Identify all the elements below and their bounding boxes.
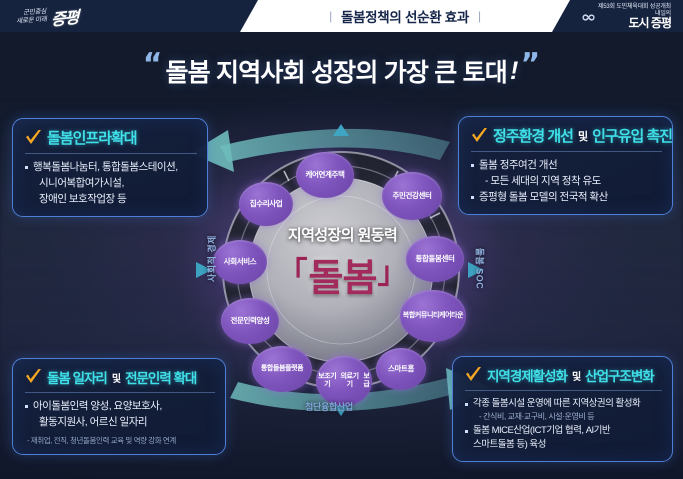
panel-title-part1: 정주환경 개선 — [493, 125, 573, 146]
node-bubble-label: 보조기기 — [316, 373, 338, 389]
list-item: 증평형 돌봄 모델의 전국적 확산 — [471, 190, 662, 205]
node-bubble-label: 통합 — [416, 255, 429, 264]
node-bubble-label: 의료기기 — [338, 373, 360, 389]
list-item-note: - 간식비, 교재·교구비, 시설·운영비 등 — [465, 411, 662, 422]
node-bubble-label: 양성 — [257, 317, 270, 326]
header-title-text: 돌봄정책의 선순환 효과 — [341, 6, 469, 26]
node-bubble-label: 건강센터 — [406, 192, 432, 201]
list-item: 장애인 보호작업장 등 — [25, 192, 197, 207]
list-item: - 모든 세대의 지역 정착 유도 — [471, 174, 662, 189]
node-bubble[interactable]: 전문인력양성 — [221, 298, 279, 344]
header-divider-right: | — [478, 9, 481, 23]
panel-list: 각종 돌봄시설 운영에 따른 지역상권의 활성화 - 간식비, 교재·교구비, … — [465, 397, 662, 452]
node-bubble[interactable]: 주민건강센터 — [382, 172, 442, 220]
flow-label-social-economy: 사회적 경제 — [205, 235, 218, 282]
list-item: 활동지원사, 어르신 일자리 — [25, 415, 215, 430]
panel-settlement-population[interactable]: 정주환경 개선 및 인구유입 촉진 돌봄 정주여건 개선 - 모든 세대의 지역… — [458, 116, 673, 215]
node-bubble[interactable]: 집수리사업 — [239, 182, 293, 226]
divider — [25, 153, 197, 154]
panel-title-part2: 전문인력 확대 — [125, 367, 196, 387]
divider — [471, 151, 662, 152]
node-bubble-label: 타운 — [451, 312, 463, 320]
panel-title-part1: 지역경제활성화 — [487, 365, 567, 385]
logo-left-tagline-2: 새로운 미래 — [16, 16, 47, 26]
panel-header: 돌봄 일자리 및 전문인력 확대 — [25, 367, 215, 387]
node-bubble-label: 돌봄플랫폼 — [273, 365, 303, 373]
panel-list: 아이돌봄인력 양성, 요양보호사, 활동지원사, 어르신 일자리 — [25, 399, 215, 430]
panel-title-conj: 및 — [112, 370, 120, 385]
flow-label-convergence-industry: 첨단융합산업 — [305, 400, 353, 413]
logo-right-text: 제53회 도민체육대회 성공개최 내일의 도시 증평 — [598, 4, 671, 29]
checkmark-icon — [471, 128, 488, 144]
node-bubble-label: 복합 — [403, 312, 415, 320]
checkmark-icon — [25, 130, 42, 146]
logo-jeungpyeong-left: 군민중심 새로운 미래 증평 — [16, 4, 196, 30]
panel-care-jobs-workforce[interactable]: 돌봄 일자리 및 전문인력 확대 아이돌봄인력 양성, 요양보호사, 활동지원사… — [12, 358, 226, 455]
logo-jeungpyeong-right: ∞ 제53회 도민체육대회 성공개최 내일의 도시 증평 — [582, 5, 671, 29]
node-bubble[interactable]: 통합돌봄센터 — [406, 236, 464, 282]
center-keyword: 「 돌봄 」 — [278, 247, 408, 302]
panel-title-part2: 산업구조변화 — [585, 365, 654, 385]
divider — [25, 392, 215, 393]
node-bubble-label: 케어 — [306, 171, 319, 180]
node-bubble-label: 홈 — [408, 365, 415, 374]
panel-care-infrastructure[interactable]: 돌봄인프라확대 행복돌봄나눔터, 통합돌봄스테이션, 시니어복합여가시설, 장애… — [12, 118, 208, 217]
node-bubble-label: 보급 — [361, 373, 372, 389]
node-bubble-label: 주민 — [393, 192, 406, 201]
node-bubble[interactable]: 스마트홈 — [376, 348, 426, 390]
list-item: 돌봄 정주여건 개선 — [471, 158, 662, 173]
quote-open-icon: “ — [143, 56, 163, 74]
panel-list: 행복돌봄나눔터, 통합돌봄스테이션, 시니어복합여가시설, 장애인 보호작업장 … — [25, 160, 197, 207]
panel-title-conj: 및 — [578, 128, 587, 144]
node-bubble-label: 사회 — [224, 258, 237, 267]
list-item: 행복돌봄나눔터, 통합돌봄스테이션, — [25, 160, 197, 175]
node-bubble[interactable]: 사회서비스 — [213, 240, 267, 284]
logo-right-line-3: 도시 증평 — [629, 17, 672, 30]
node-bubble-label: 연계주택 — [319, 171, 345, 180]
node-bubble-label: 스마트 — [388, 365, 408, 374]
node-bubble[interactable]: 케어연계주택 — [296, 152, 354, 198]
panel-title-part1: 돌봄 일자리 — [47, 367, 107, 387]
checkmark-icon — [25, 369, 42, 385]
logo-left-brand: 증평 — [51, 3, 78, 30]
slide-canvas: | 돌봄정책의 선순환 효과 | 군민중심 새로운 미래 증평 ∞ 제53회 도… — [0, 0, 683, 479]
node-bubble[interactable]: 복합커뮤니티케어타운 — [400, 290, 466, 342]
panel-title: 돌봄인프라확대 — [47, 127, 137, 148]
node-bubble-label: 전문인력 — [231, 317, 257, 326]
page-title-exclamation: ! — [510, 57, 518, 86]
node-bubble-label: 사업 — [269, 200, 282, 209]
flow-label-care-soc: 돌봄 SOC — [473, 248, 486, 290]
checkmark-icon — [465, 367, 482, 383]
header-title: | 돌봄정책의 선순환 효과 | — [240, 0, 570, 32]
center-subtitle: 지역성장의 원동력 — [288, 224, 397, 245]
panel-footnote: - 재취업, 전직, 청년돌봄인력 교육 및 역량 강화 연계 — [25, 435, 215, 446]
list-item: 돌봄 MICE산업(ICT기업 협력, AI기반 — [465, 424, 662, 437]
page-title-text: 돌봄 지역사회 성장의 가장 큰 토대 — [165, 53, 507, 89]
node-bubble-label: 집수리 — [250, 200, 270, 209]
list-item: 각종 돌봄시설 운영에 따른 지역상권의 활성화 — [465, 397, 662, 410]
panel-header: 정주환경 개선 및 인구유입 촉진 — [471, 125, 662, 146]
infinity-icon: ∞ — [581, 8, 594, 26]
panel-header: 지역경제활성화 및 산업구조변화 — [465, 365, 662, 385]
node-bubble-label: 커뮤니티케어 — [415, 312, 451, 320]
bracket-close: 」 — [377, 259, 407, 289]
panel-title-part2: 인구유입 촉진 — [592, 125, 672, 146]
node-bubble-label: 돌봄센터 — [429, 255, 455, 264]
node-bubble[interactable]: 통합돌봄플랫폼 — [252, 346, 312, 392]
node-bubble[interactable]: 보조기기의료기기보급 — [316, 356, 372, 406]
logo-left-tagline: 군민중심 새로운 미래 — [15, 8, 47, 26]
list-item-continued: 스마트돌봄 등) 육성 — [465, 438, 662, 451]
list-item: 시니어복합여가시설, — [25, 176, 197, 191]
divider — [465, 390, 662, 391]
bracket-open: 「 — [278, 259, 308, 289]
list-item: 아이돌봄인력 양성, 요양보호사, — [25, 399, 215, 414]
header-divider-left: | — [329, 9, 332, 23]
panel-regional-economy-industry[interactable]: 지역경제활성화 및 산업구조변화 각종 돌봄시설 운영에 따른 지역상권의 활성… — [452, 356, 673, 462]
panel-header: 돌봄인프라확대 — [25, 127, 197, 148]
node-bubble-label: 서비스 — [237, 258, 257, 267]
center-keyword-text: 돌봄 — [309, 247, 377, 302]
node-bubble-label: 통합 — [261, 365, 273, 373]
page-title: “ 돌봄 지역사회 성장의 가장 큰 토대 ! ” — [0, 48, 683, 94]
quote-close-icon: ” — [521, 56, 541, 74]
header-bar: | 돌봄정책의 선순환 효과 | 군민중심 새로운 미래 증평 ∞ 제53회 도… — [0, 0, 683, 32]
panel-list: 돌봄 정주여건 개선 - 모든 세대의 지역 정착 유도 증평형 돌봄 모델의 … — [471, 158, 662, 205]
panel-title-conj: 및 — [572, 368, 580, 383]
